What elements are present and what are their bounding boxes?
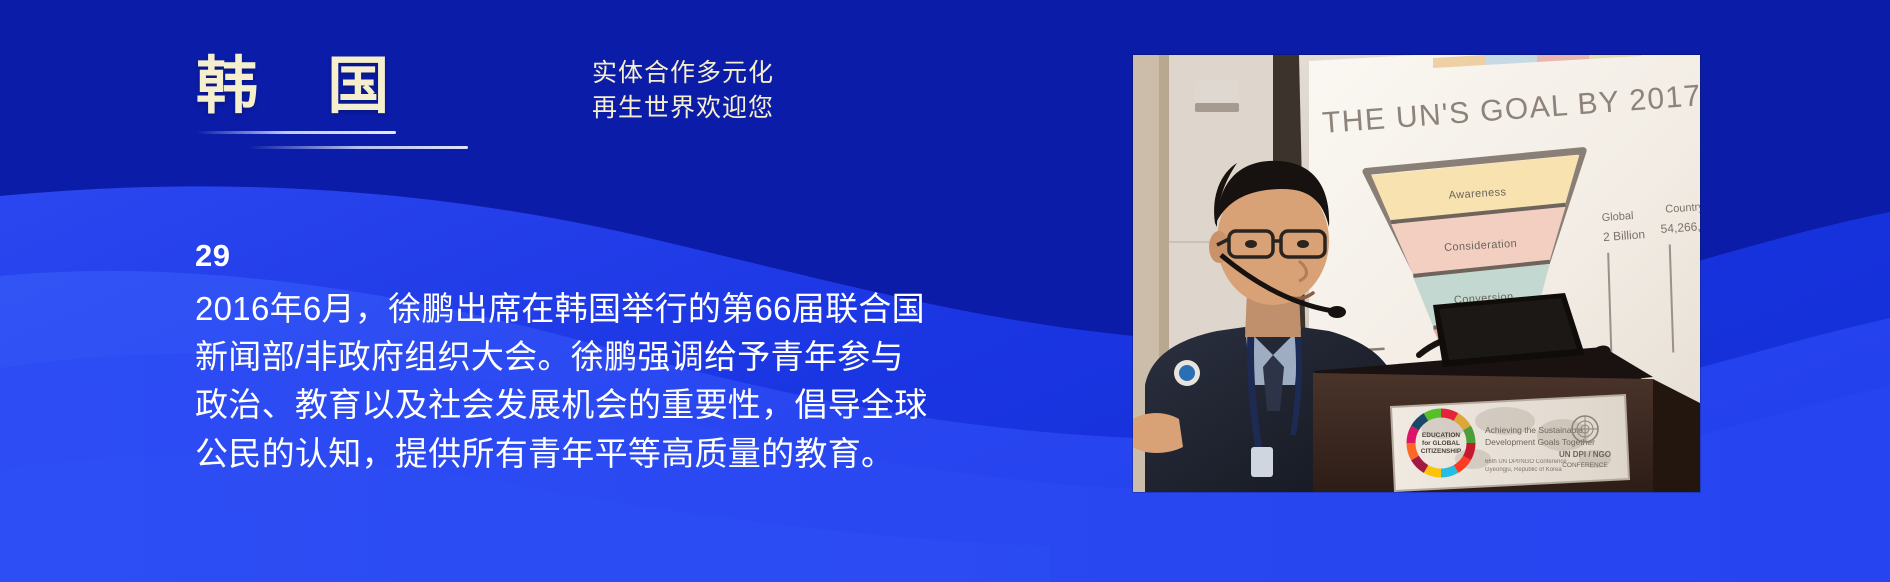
paragraph-line-3: 政治、教育以及社会发展机会的重要性，倡导全球 bbox=[195, 381, 1025, 429]
stat-label-country: Country bbox=[1665, 201, 1700, 216]
heading-block: 韩 国 bbox=[196, 54, 616, 153]
slogan-line-2: 再生世界欢迎您 bbox=[592, 91, 774, 126]
body-paragraph: 2016年6月，徐鹏出席在韩国举行的第66届联合国 新闻部/非政府组织大会。徐鹏… bbox=[195, 285, 1025, 478]
page-title: 韩 国 bbox=[196, 54, 616, 119]
title-underline-decoration bbox=[196, 127, 616, 153]
svg-text:EDUCATION: EDUCATION bbox=[1422, 432, 1460, 439]
banner-org-line1: UN DPI / NGO bbox=[1559, 450, 1611, 459]
stat-value-global: 2 Billion bbox=[1603, 227, 1646, 244]
svg-text:for GLOBAL: for GLOBAL bbox=[1422, 440, 1460, 447]
banner-subtitle-line2: Development Goals Together bbox=[1485, 437, 1595, 447]
banner-detail-line1: 66th UN DPI/NGO Conference bbox=[1485, 459, 1567, 465]
paragraph-line-4: 公民的认知，提供所有青年平等高质量的教育。 bbox=[195, 430, 1025, 478]
banner-detail-line2: Gyeongju, Republic of Korea bbox=[1485, 467, 1562, 473]
slogan-line-1: 实体合作多元化 bbox=[592, 56, 774, 91]
svg-text:CITIZENSHIP: CITIZENSHIP bbox=[1421, 448, 1462, 455]
wall-fixture bbox=[1195, 79, 1239, 112]
banner-subtitle-line1: Achieving the Sustainable bbox=[1485, 425, 1583, 435]
banner-org-line2: CONFERENCE bbox=[1562, 462, 1608, 469]
slide-root: 韩 国 实体合作多元化 再生世界欢迎您 29 2016年6月，徐鹏出席在韩国举行… bbox=[0, 0, 1890, 582]
conference-photo: THE UN'S GOAL BY 2017 bbox=[1133, 55, 1700, 492]
paragraph-line-1: 2016年6月，徐鹏出席在韩国举行的第66届联合国 bbox=[195, 285, 1025, 333]
stat-label-global: Global bbox=[1601, 210, 1634, 224]
paragraph-line-2: 新闻部/非政府组织大会。徐鹏强调给予青年参与 bbox=[195, 333, 1025, 381]
slogan: 实体合作多元化 再生世界欢迎您 bbox=[592, 56, 774, 125]
item-number: 29 bbox=[195, 240, 1025, 271]
un-emblem-icon bbox=[1572, 416, 1598, 442]
title-rule-lower bbox=[248, 146, 468, 149]
title-rule-upper bbox=[196, 131, 396, 134]
body-block: 29 2016年6月，徐鹏出席在韩国举行的第66届联合国 新闻部/非政府组织大会… bbox=[195, 240, 1025, 478]
